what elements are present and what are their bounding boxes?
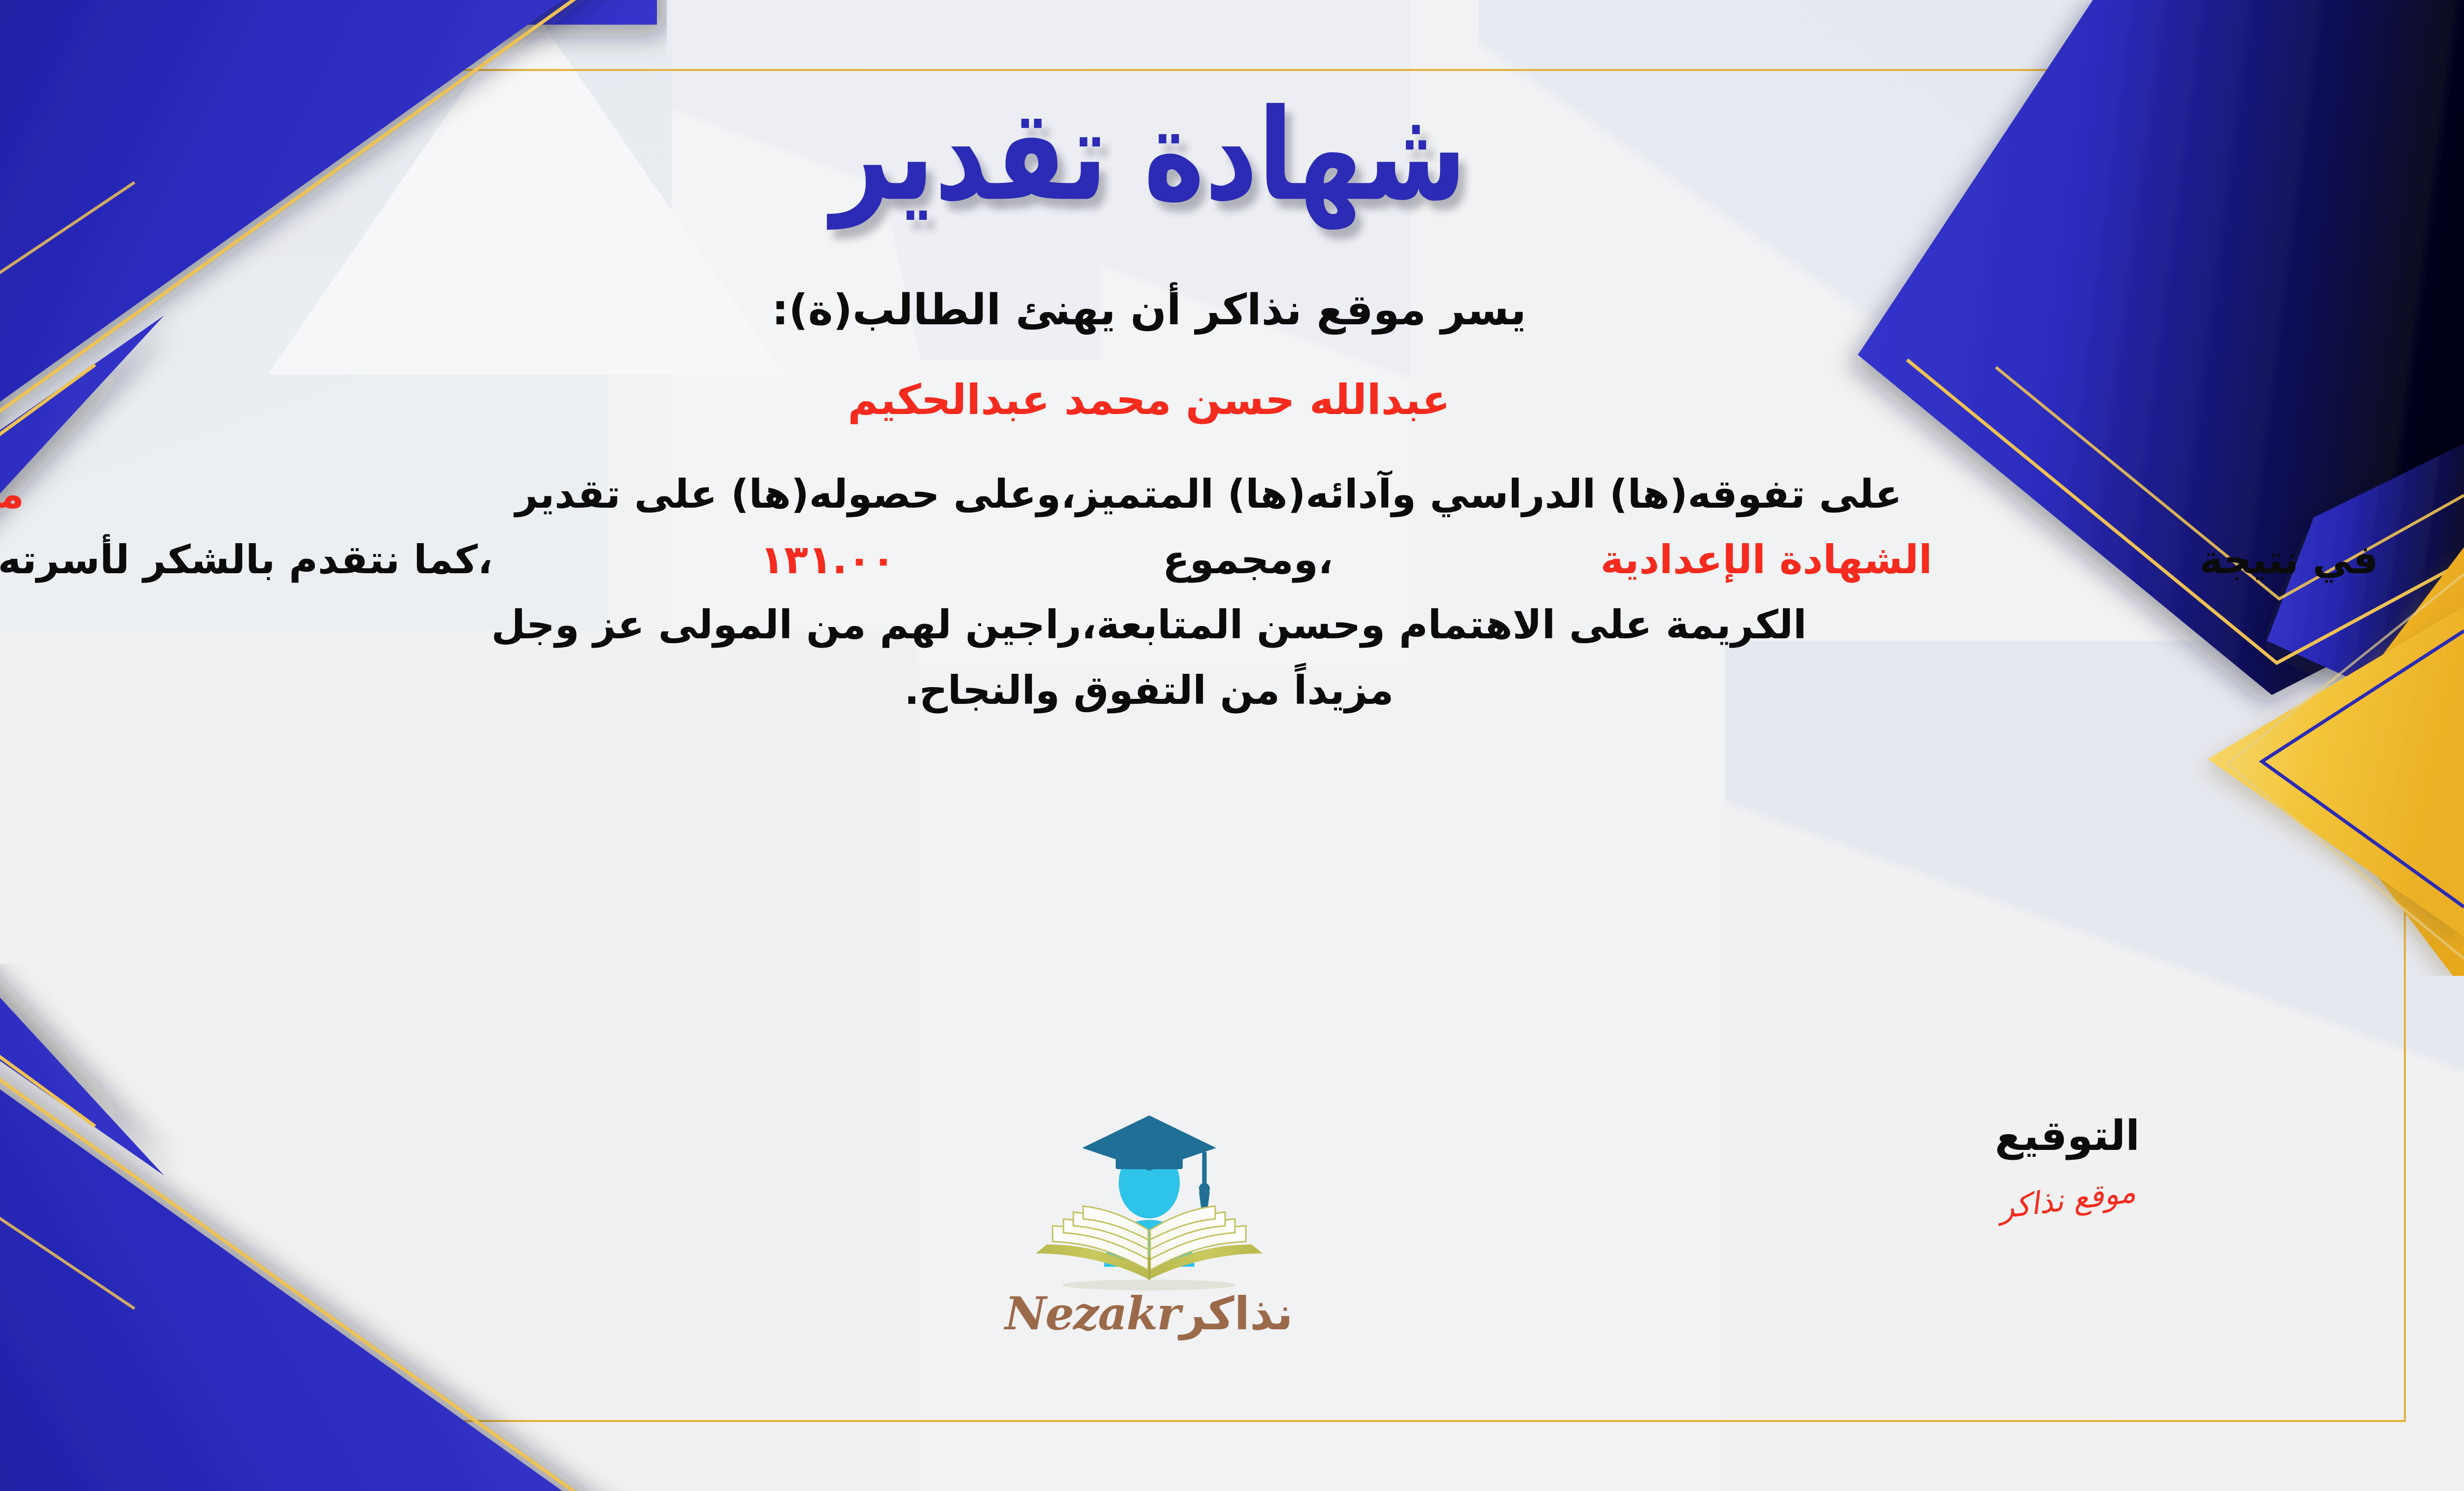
signature-label: التوقيع [1995,1111,2140,1160]
certificate-body: يسر موقع نذاكر أن يهنئ الطالب(ة): عبدالل… [0,276,2406,724]
citation-line-2-prefix: في نتيجة [2199,527,2378,593]
citation-line-1: على تفوقه(ها) الدراسي وآدائه(ها) المتميز… [0,462,2378,527]
citation-line-2-suffix: ،كما نتقدم بالشكر لأسرته(ها) [0,527,493,593]
graduate-book-logo-icon [992,1097,1307,1294]
citation-line-3: الكريمة على الاهتمام وحسن المتابعة،راجين… [0,592,2378,658]
certificate-footer: التوقيع موقع نذاكر [0,1097,2406,1402]
grade-value: ممتاز [0,462,24,527]
student-name: عبدالله حسن محمد عبدالحكيم [0,366,2406,433]
certificate-name: الشهادة الإعدادية [1601,527,1932,593]
certificate-page: شهادة تقدير يسر موقع نذاكر أن يهنئ الطال… [0,0,2464,1491]
brand-logo: نذاكرNezakr [977,1097,1322,1340]
citation-line-4: مزيداً من التفوق والنجاح. [0,658,2378,724]
citation-line-1-text: على تفوقه(ها) الدراسي وآدائه(ها) المتميز… [39,462,2378,527]
certificate-content: شهادة تقدير يسر موقع نذاكر أن يهنئ الطال… [0,69,2406,1422]
intro-line: يسر موقع نذاكر أن يهنئ الطالب(ة): [0,276,2406,345]
signature-block: التوقيع موقع نذاكر [1995,1111,2140,1217]
citation-line-2: في نتيجة الشهادة الإعدادية ،ومجموع ١٣١.٠… [0,527,2378,593]
brand-wordmark: نذاكرNezakr [977,1287,1322,1340]
brand-wordmark-arabic: نذاكر [1180,1287,1293,1340]
page-title: شهادة تقدير [831,83,1467,228]
citation-line-2-mid: ،ومجموع [1163,527,1333,593]
brand-wordmark-latin: Nezakr [1005,1287,1180,1340]
signature-mark: موقع نذاكر [1993,1173,2142,1226]
citation-paragraph: على تفوقه(ها) الدراسي وآدائه(ها) المتميز… [0,462,2406,724]
total-score: ١٣١.٠٠ [760,527,895,593]
